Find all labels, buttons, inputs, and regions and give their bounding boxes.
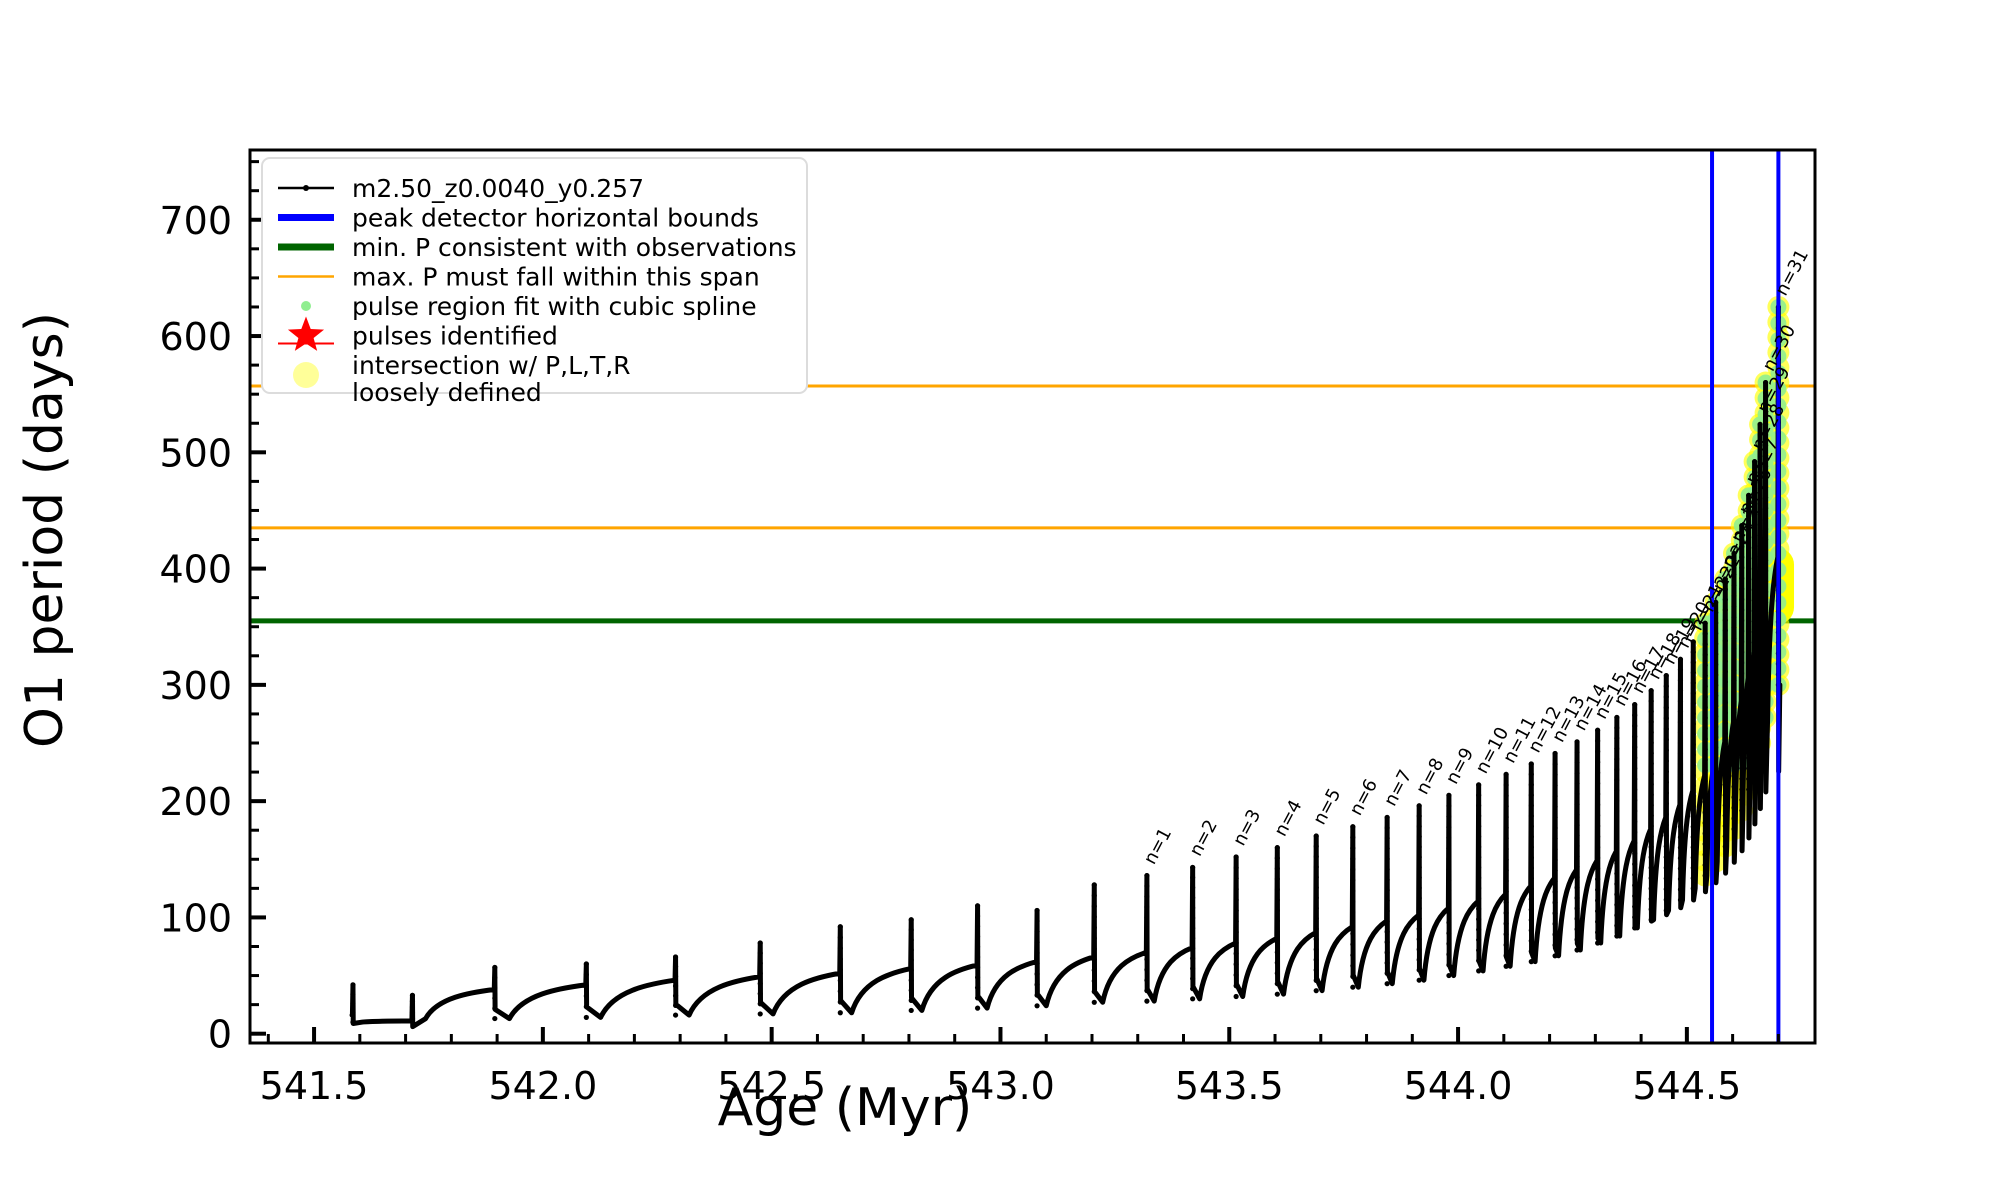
model-point <box>492 1006 497 1011</box>
model-point <box>1529 938 1534 943</box>
model-point <box>1691 711 1696 716</box>
model-point <box>1723 720 1728 725</box>
model-point <box>1595 919 1600 924</box>
model-point <box>1190 885 1195 890</box>
model-point <box>1632 755 1637 760</box>
legend-label: pulses identified <box>352 322 558 351</box>
model-point <box>1552 868 1557 873</box>
model-point <box>1614 798 1619 803</box>
model-point <box>1691 732 1696 737</box>
model-point <box>1446 878 1451 883</box>
model-point <box>1314 854 1319 859</box>
model-point <box>1678 772 1683 777</box>
model-point <box>1385 825 1390 830</box>
model-point <box>1234 951 1239 956</box>
model-point <box>1314 833 1319 838</box>
model-point <box>410 1004 415 1009</box>
model-point <box>1350 931 1355 936</box>
model-point <box>1691 763 1696 768</box>
model-point <box>1746 671 1751 676</box>
model-point <box>1552 783 1557 788</box>
model-point <box>1752 617 1757 622</box>
model-point <box>1703 747 1708 752</box>
model-point <box>1691 855 1696 860</box>
model-point <box>1723 762 1728 767</box>
model-point <box>1691 773 1696 778</box>
model-point <box>1595 877 1600 882</box>
model-point <box>1678 814 1683 819</box>
model-point <box>1664 726 1669 731</box>
model-point <box>1664 822 1669 827</box>
model-point <box>1632 745 1637 750</box>
model-point <box>1664 780 1669 785</box>
model-point <box>1763 642 1768 647</box>
model-point <box>1417 803 1422 808</box>
model-point <box>1190 986 1195 991</box>
model-point <box>673 993 678 998</box>
model-point <box>1723 618 1728 623</box>
model-point <box>1614 861 1619 866</box>
model-point <box>1314 988 1319 993</box>
model-point <box>1746 598 1751 603</box>
model-point <box>1144 873 1149 878</box>
model-point <box>838 935 843 940</box>
model-point <box>1691 875 1696 880</box>
model-point <box>1739 702 1744 707</box>
model-point <box>1552 953 1557 958</box>
model-point <box>1632 734 1637 739</box>
model-point <box>1664 897 1669 902</box>
model-point <box>1385 950 1390 955</box>
model-point <box>1757 602 1762 607</box>
model-point <box>1574 906 1579 911</box>
model-point <box>1275 876 1280 881</box>
model-point <box>1385 981 1390 986</box>
model-point <box>1691 793 1696 798</box>
model-point <box>1446 846 1451 851</box>
model-point <box>1746 640 1751 645</box>
model-point <box>1350 888 1355 893</box>
figure-root: Age (Myr) O1 period (days) n=1n=2n=3n=4n… <box>0 0 2000 1200</box>
model-point <box>1731 795 1736 800</box>
model-point <box>1752 596 1757 601</box>
model-point <box>1595 738 1600 743</box>
model-point <box>909 917 914 922</box>
model-point <box>1731 773 1736 778</box>
model-point <box>1190 966 1195 971</box>
model-point <box>1731 604 1736 609</box>
model-point <box>1763 694 1768 699</box>
model-point <box>1552 772 1557 777</box>
model-point <box>1446 941 1451 946</box>
model-point <box>1632 723 1637 728</box>
model-point <box>975 924 980 929</box>
model-point <box>1595 728 1600 733</box>
model-point <box>1649 844 1654 849</box>
model-point <box>1752 765 1757 770</box>
model-point <box>909 998 914 1003</box>
model-point <box>1092 936 1097 941</box>
model-point <box>1703 642 1708 647</box>
model-point <box>1385 815 1390 820</box>
model-point <box>1649 803 1654 808</box>
model-point <box>1649 698 1654 703</box>
model-point <box>1476 824 1481 829</box>
model-point <box>1092 1000 1097 1005</box>
model-point <box>1614 736 1619 741</box>
model-point <box>1746 703 1751 708</box>
model-point <box>975 995 980 1000</box>
model-point <box>1476 968 1481 973</box>
model-point <box>1703 768 1708 773</box>
model-point <box>1446 888 1451 893</box>
model-point <box>1552 943 1557 948</box>
model-point <box>1595 930 1600 935</box>
model-point <box>1144 925 1149 930</box>
model-point <box>1664 705 1669 710</box>
model-point <box>758 981 763 986</box>
model-point <box>1504 793 1509 798</box>
model-point <box>1574 843 1579 848</box>
model-point <box>1446 899 1451 904</box>
model-point <box>1703 663 1708 668</box>
model-point <box>1757 666 1762 671</box>
model-point <box>1529 959 1534 964</box>
model-point <box>1664 694 1669 699</box>
model-point <box>1763 673 1768 678</box>
model-point <box>1529 782 1534 787</box>
model-point <box>1476 906 1481 911</box>
legend-item[interactable]: pulse region fit with cubic spline <box>301 292 757 321</box>
model-point <box>1739 734 1744 739</box>
big-dot-icon <box>293 362 319 388</box>
model-point <box>1504 878 1509 883</box>
model-point <box>1504 942 1509 947</box>
model-point <box>1476 958 1481 963</box>
model-point <box>1275 950 1280 955</box>
model-point <box>1731 710 1736 715</box>
model-point <box>1632 830 1637 835</box>
model-point <box>1552 921 1557 926</box>
model-point <box>1190 976 1195 981</box>
model-point <box>1757 698 1762 703</box>
model-point <box>1703 789 1708 794</box>
model-point <box>838 924 843 929</box>
model-point <box>1723 690 1728 695</box>
model-point <box>1595 887 1600 892</box>
model-point <box>1723 803 1728 808</box>
x-tick-label: 544.0 <box>1404 1064 1513 1108</box>
model-point <box>1529 761 1534 766</box>
model-point <box>1746 661 1751 666</box>
model-point <box>1649 740 1654 745</box>
model-point <box>1092 946 1097 951</box>
model-point <box>1092 989 1097 994</box>
model-point <box>1092 968 1097 973</box>
model-point <box>1476 886 1481 891</box>
model-point <box>1632 702 1637 707</box>
model-point <box>1739 671 1744 676</box>
model-point <box>1190 865 1195 870</box>
model-point <box>1614 923 1619 928</box>
model-point <box>1632 776 1637 781</box>
model-point <box>1476 844 1481 849</box>
y-tick-label: 500 <box>159 431 232 475</box>
model-point <box>1574 895 1579 900</box>
model-point <box>1552 847 1557 852</box>
model-point <box>1649 896 1654 901</box>
model-point <box>1649 771 1654 776</box>
model-point <box>492 985 497 990</box>
model-point <box>1595 866 1600 871</box>
model-point <box>1763 516 1768 521</box>
model-point <box>1731 636 1736 641</box>
model-point <box>1731 784 1736 789</box>
model-point <box>1678 761 1683 766</box>
x-tick-label: 543.0 <box>946 1064 1055 1108</box>
model-point <box>1574 750 1579 755</box>
model-point <box>1385 929 1390 934</box>
model-point <box>975 1006 980 1011</box>
model-point <box>1691 865 1696 870</box>
model-point <box>1552 804 1557 809</box>
model-point <box>1417 896 1422 901</box>
model-point <box>1691 691 1696 696</box>
model-point <box>1763 663 1768 668</box>
model-point <box>1446 803 1451 808</box>
model-point <box>1595 908 1600 913</box>
model-point <box>1504 900 1509 905</box>
model-point <box>1746 713 1751 718</box>
model-point <box>1574 770 1579 775</box>
model-point <box>1552 857 1557 862</box>
model-point <box>1746 619 1751 624</box>
model-point <box>1314 937 1319 942</box>
model-point <box>1746 745 1751 750</box>
model-point <box>1678 835 1683 840</box>
model-point <box>1144 957 1149 962</box>
legend-label: pulse region fit with cubic spline <box>352 292 757 321</box>
model-point <box>1504 857 1509 862</box>
model-point <box>1446 920 1451 925</box>
model-point <box>1417 844 1422 849</box>
model-point <box>1746 787 1751 792</box>
model-point <box>1595 781 1600 786</box>
model-point <box>1678 803 1683 808</box>
model-point <box>1092 893 1097 898</box>
model-point <box>1144 999 1149 1004</box>
model-point <box>1649 875 1654 880</box>
model-point <box>1504 814 1509 819</box>
model-point <box>1757 624 1762 629</box>
model-point <box>1417 824 1422 829</box>
model-point <box>1723 792 1728 797</box>
model-point <box>1731 699 1736 704</box>
model-point <box>1529 845 1534 850</box>
model-point <box>1595 845 1600 850</box>
model-point <box>1574 833 1579 838</box>
model-point <box>1739 723 1744 728</box>
model-point <box>1574 812 1579 817</box>
model-point <box>1190 936 1195 941</box>
model-point <box>1757 719 1762 724</box>
model-point <box>838 946 843 951</box>
model-point <box>1632 872 1637 877</box>
model-point <box>1529 855 1534 860</box>
model-point <box>1678 876 1683 881</box>
model-point <box>1739 797 1744 802</box>
model-point <box>1314 926 1319 931</box>
model-point <box>1614 892 1619 897</box>
model-point <box>1350 942 1355 947</box>
model-point <box>1752 543 1757 548</box>
model-point <box>1739 681 1744 686</box>
model-point <box>1757 634 1762 639</box>
model-point <box>1739 597 1744 602</box>
model-point <box>1746 724 1751 729</box>
y-tick-label: 100 <box>159 896 232 940</box>
model-point <box>1664 886 1669 891</box>
model-point <box>1417 813 1422 818</box>
model-point <box>1649 730 1654 735</box>
model-point <box>1723 782 1728 787</box>
model-point <box>1703 820 1708 825</box>
model-point <box>758 991 763 996</box>
model-point <box>1723 648 1728 653</box>
model-point <box>1552 900 1557 905</box>
model-point <box>1275 971 1280 976</box>
model-point <box>1574 791 1579 796</box>
model-point <box>1552 879 1557 884</box>
model-point <box>1595 823 1600 828</box>
model-point <box>1190 895 1195 900</box>
model-point <box>1417 906 1422 911</box>
model-point <box>1739 776 1744 781</box>
model-point <box>1385 940 1390 945</box>
model-point <box>1314 875 1319 880</box>
x-tick-label: 544.5 <box>1632 1064 1741 1108</box>
model-point <box>1476 782 1481 787</box>
model-point <box>1752 575 1757 580</box>
model-point <box>1731 720 1736 725</box>
model-point <box>1595 770 1600 775</box>
model-point <box>1691 701 1696 706</box>
model-point <box>975 903 980 908</box>
model-point <box>1144 936 1149 941</box>
model-point <box>1614 933 1619 938</box>
model-point <box>1529 813 1534 818</box>
y-tick-label: 0 <box>208 1013 232 1057</box>
model-point <box>673 964 678 969</box>
model-point <box>1234 876 1239 881</box>
model-point <box>1417 865 1422 870</box>
model-point <box>1234 865 1239 870</box>
model-point <box>1731 752 1736 757</box>
model-point <box>1723 659 1728 664</box>
y-tick-label: 300 <box>159 664 232 708</box>
model-point <box>1446 962 1451 967</box>
model-point <box>909 957 914 962</box>
chart-svg: Age (Myr) O1 period (days) n=1n=2n=3n=4n… <box>0 0 2000 1200</box>
model-point <box>1723 679 1728 684</box>
legend-label: min. P consistent with observations <box>352 233 797 262</box>
model-point <box>1595 802 1600 807</box>
model-point <box>1691 814 1696 819</box>
model-point <box>1504 825 1509 830</box>
model-point <box>1752 733 1757 738</box>
model-point <box>1757 549 1762 554</box>
model-point <box>1552 751 1557 756</box>
model-point <box>1678 678 1683 683</box>
model-point <box>1739 628 1744 633</box>
model-point <box>1691 752 1696 757</box>
model-point <box>1190 946 1195 951</box>
model-point <box>1678 856 1683 861</box>
model-point <box>1385 898 1390 903</box>
model-point <box>1757 592 1762 597</box>
model-point <box>1350 899 1355 904</box>
model-point <box>1746 608 1751 613</box>
model-point <box>1723 813 1728 818</box>
model-point <box>1632 851 1637 856</box>
model-point <box>1757 613 1762 618</box>
model-point <box>1529 897 1534 902</box>
model-point <box>975 975 980 980</box>
model-point <box>1703 705 1708 710</box>
model-point <box>1731 667 1736 672</box>
model-point <box>1664 737 1669 742</box>
model-point <box>1614 767 1619 772</box>
model-point <box>1614 840 1619 845</box>
model-point <box>1763 558 1768 563</box>
model-point <box>1234 972 1239 977</box>
model-point <box>1314 947 1319 952</box>
model-point <box>1752 744 1757 749</box>
model-point <box>1275 992 1280 997</box>
model-point <box>1574 802 1579 807</box>
model-point <box>1723 607 1728 612</box>
model-point <box>673 1012 678 1017</box>
model-point <box>1446 793 1451 798</box>
model-point <box>1595 760 1600 765</box>
model-point <box>1417 854 1422 859</box>
model-point <box>1385 919 1390 924</box>
model-point <box>1632 840 1637 845</box>
model-point <box>1739 586 1744 591</box>
x-tick-label: 542.0 <box>488 1064 597 1108</box>
model-point <box>1574 947 1579 952</box>
model-point <box>1234 908 1239 913</box>
model-point <box>1350 878 1355 883</box>
model-point <box>1552 793 1557 798</box>
model-point <box>1664 748 1669 753</box>
model-point <box>1746 692 1751 697</box>
model-point <box>1385 867 1390 872</box>
model-point <box>975 965 980 970</box>
model-point <box>1731 657 1736 662</box>
model-point <box>1144 978 1149 983</box>
model-point <box>1614 756 1619 761</box>
model-point <box>1144 894 1149 899</box>
model-point <box>1723 823 1728 828</box>
model-point <box>350 1001 355 1006</box>
legend-item[interactable]: min. P consistent with observations <box>278 233 797 262</box>
model-point <box>1314 844 1319 849</box>
model-point <box>1739 745 1744 750</box>
model-point <box>1649 865 1654 870</box>
model-point <box>1703 726 1708 731</box>
model-point <box>1703 778 1708 783</box>
